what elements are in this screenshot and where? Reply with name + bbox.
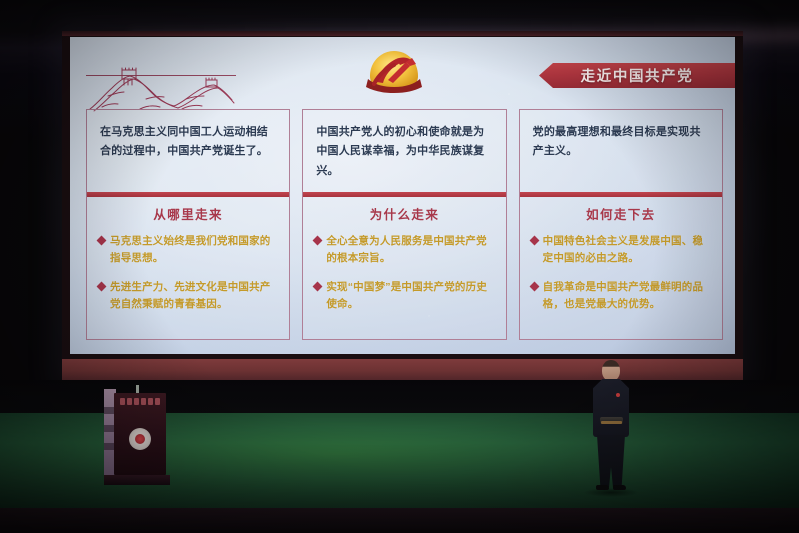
- column-bullet-list: 中国特色社会主义是发展中国、稳定中国的必由之路。 自我革命是中国共产党最鲜明的品…: [520, 228, 722, 333]
- diamond-bullet-icon: [97, 236, 107, 246]
- presenter-shoe-right: [613, 485, 626, 490]
- diamond-bullet-icon: [97, 282, 107, 292]
- diamond-bullet-icon: [313, 236, 323, 246]
- slide-title: 走近中国共产党: [581, 65, 694, 86]
- column-heading: 为什么走来: [303, 197, 505, 228]
- column-lead-text: 在马克思主义同中国工人运动相结合的过程中，中国共产党诞生了。: [87, 110, 289, 192]
- presenter-shadow: [584, 488, 638, 497]
- column-lead-text: 党的最高理想和最终目标是实现共产主义。: [520, 110, 722, 192]
- slide-columns: 在马克思主义同中国工人运动相结合的过程中，中国共产党诞生了。 从哪里走来 马克思…: [86, 109, 723, 340]
- column-heading-label: 为什么走来: [370, 208, 440, 222]
- lapel-pin-icon: [616, 393, 620, 397]
- bullet-text: 中国特色社会主义是发展中国、稳定中国的必由之路。: [543, 233, 712, 267]
- presenter-suit-jacket: [593, 379, 629, 437]
- column-heading-label: 如何走下去: [586, 208, 656, 222]
- tablet-device-icon: [600, 417, 623, 424]
- column-heading: 如何走下去: [520, 197, 722, 228]
- presenter-shoe-left: [596, 485, 609, 490]
- bullet-text: 全心全意为人民服务是中国共产党的根本宗旨。: [326, 233, 495, 267]
- column-lead-text: 中国共产党人的初心和使命就是为中国人民谋幸福，为中华民族谋复兴。: [303, 110, 505, 192]
- lead-paragraph: 中国共产党人的初心和使命就是为中国人民谋幸福，为中华民族谋复兴。: [316, 123, 493, 181]
- podium-seal-emblem: [129, 428, 151, 450]
- bullet-text: 马克思主义始终是我们党和国家的指导思想。: [110, 233, 279, 267]
- column-bullet-list: 全心全意为人民服务是中国共产党的根本宗旨。 实现“中国梦”是中国共产党的历史使命…: [303, 228, 505, 333]
- diamond-bullet-icon: [313, 282, 323, 292]
- bullet-text: 先进生产力、先进文化是中国共产党自然秉赋的青春基因。: [110, 279, 279, 313]
- bullet-item: 自我革命是中国共产党最鲜明的品格，也是党最大的优势。: [531, 279, 712, 313]
- presenter-head: [602, 360, 620, 381]
- bullet-item: 实现“中国梦”是中国共产党的历史使命。: [314, 279, 495, 313]
- bullet-item: 马克思主义始终是我们党和国家的指导思想。: [98, 233, 279, 267]
- column-heading: 从哪里走来: [87, 197, 289, 228]
- diamond-bullet-icon: [529, 236, 539, 246]
- lead-paragraph: 党的最高理想和最终目标是实现共产主义。: [533, 123, 710, 162]
- column-origin: 在马克思主义同中国工人运动相结合的过程中，中国共产党诞生了。 从哪里走来 马克思…: [86, 109, 290, 340]
- podium: [98, 385, 176, 490]
- bullet-item: 中国特色社会主义是发展中国、稳定中国的必由之路。: [531, 233, 712, 267]
- lead-paragraph: 在马克思主义同中国工人运动相结合的过程中，中国共产党诞生了。: [100, 123, 277, 162]
- presenter-figure: [588, 360, 634, 495]
- screen-bottom-trim: [62, 359, 743, 380]
- party-emblem-icon: [360, 46, 428, 94]
- great-wall-icon: [86, 63, 236, 115]
- slide-title-ribbon: 走近中国共产党: [539, 63, 735, 88]
- screen-top-trim: [62, 31, 743, 36]
- presentation-slide: 走近中国共产党 在马克思主义同中国工人运动相结合的过程中，中国共产党诞生了。 从…: [70, 37, 735, 354]
- stage-front-edge: [0, 508, 799, 533]
- column-purpose: 中国共产党人的初心和使命就是为中国人民谋幸福，为中华民族谋复兴。 为什么走来 全…: [302, 109, 506, 340]
- diamond-bullet-icon: [529, 282, 539, 292]
- presenter-trousers: [597, 435, 625, 487]
- column-heading-label: 从哪里走来: [153, 208, 223, 222]
- column-bullet-list: 马克思主义始终是我们党和国家的指导思想。 先进生产力、先进文化是中国共产党自然秉…: [87, 228, 289, 333]
- column-future: 党的最高理想和最终目标是实现共产主义。 如何走下去 中国特色社会主义是发展中国、…: [519, 109, 723, 340]
- podium-inscription: [116, 397, 164, 406]
- photo-scene: 走近中国共产党 在马克思主义同中国工人运动相结合的过程中，中国共产党诞生了。 从…: [0, 0, 799, 533]
- bullet-item: 先进生产力、先进文化是中国共产党自然秉赋的青春基因。: [98, 279, 279, 313]
- bullet-text: 自我革命是中国共产党最鲜明的品格，也是党最大的优势。: [543, 279, 712, 313]
- podium-base: [104, 475, 170, 485]
- bullet-item: 全心全意为人民服务是中国共产党的根本宗旨。: [314, 233, 495, 267]
- bullet-text: 实现“中国梦”是中国共产党的历史使命。: [326, 279, 495, 313]
